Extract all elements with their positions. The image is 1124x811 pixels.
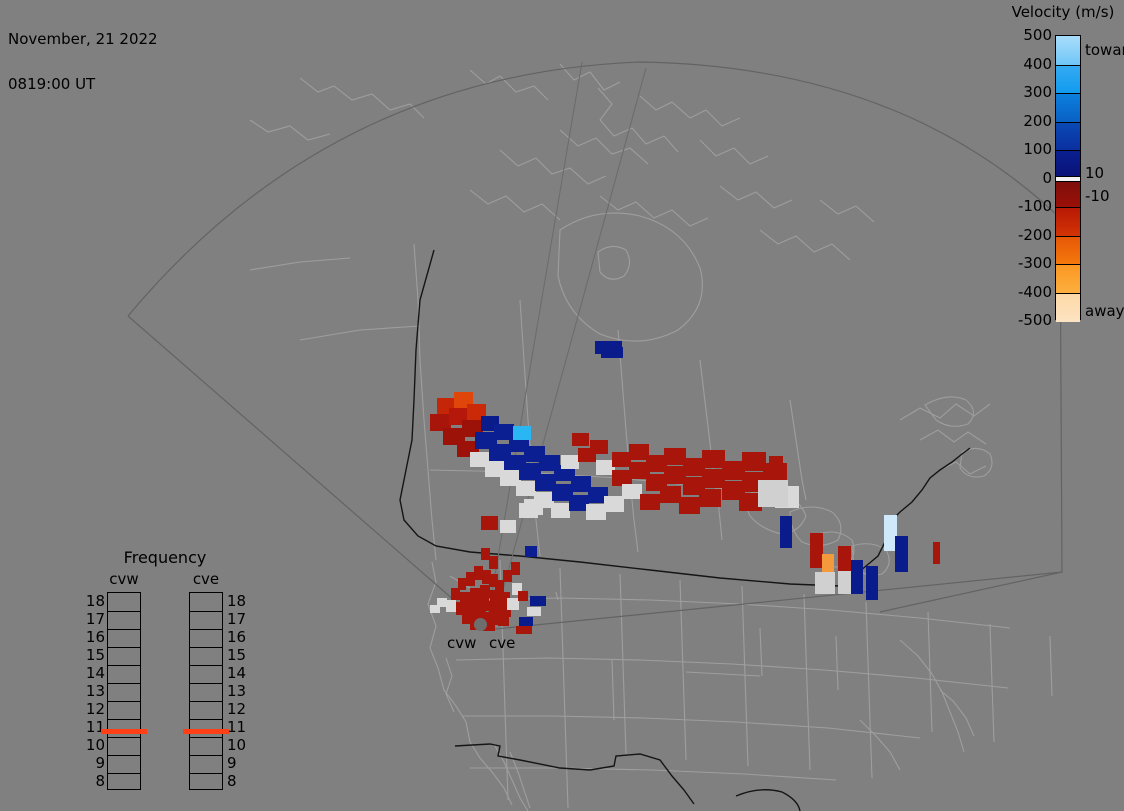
colorbar-tick-label: -500 xyxy=(1018,311,1052,329)
colorbar-tick-label: 100 xyxy=(1023,140,1052,158)
frequency-column-header-cve: cve xyxy=(183,570,229,588)
velocity-cell xyxy=(513,426,531,440)
colorbar-tick-label: -400 xyxy=(1018,283,1052,301)
frequency-scale-label-right: 18 xyxy=(227,592,246,610)
velocity-cell xyxy=(519,617,533,626)
velocity-cell xyxy=(683,458,705,476)
frequency-scale-label-left: 16 xyxy=(85,628,105,646)
frequency-scale-label-left: 18 xyxy=(85,592,105,610)
colorbar-tick-label: -100 xyxy=(1018,197,1052,215)
colorbar-band xyxy=(1056,36,1080,65)
velocity-cell xyxy=(780,516,792,548)
velocity-cell xyxy=(742,452,766,471)
velocity-cell xyxy=(525,546,537,557)
velocity-cell xyxy=(640,494,660,510)
frequency-tick-line xyxy=(108,719,140,720)
velocity-cell xyxy=(481,516,498,530)
frequency-scale-label-right: 16 xyxy=(227,628,246,646)
frequency-scale-label-right: 10 xyxy=(227,736,246,754)
frequency-scale-label-right: 8 xyxy=(227,772,237,790)
velocity-cell xyxy=(722,461,745,480)
frequency-scale-label-right: 11 xyxy=(227,718,246,736)
velocity-cell xyxy=(769,456,783,482)
velocity-cell xyxy=(481,548,490,560)
colorbar-toward-label: toward xyxy=(1085,41,1124,59)
frequency-scale-label-left: 14 xyxy=(85,664,105,682)
velocity-cell xyxy=(451,588,460,600)
frequency-scale-label-left: 8 xyxy=(85,772,105,790)
velocity-cell xyxy=(474,566,483,580)
velocity-cell xyxy=(601,347,623,358)
frequency-tick-line xyxy=(108,755,140,756)
frequency-tick-line xyxy=(190,683,222,684)
colorbar-band xyxy=(1056,207,1080,237)
velocity-cell xyxy=(660,486,681,503)
timestamp-time: 0819:00 UT xyxy=(8,77,158,92)
frequency-tick-line xyxy=(190,701,222,702)
velocity-cell xyxy=(702,469,725,488)
velocity-cell xyxy=(895,536,908,572)
colorbar-band xyxy=(1056,65,1080,95)
frequency-bar-cvw[interactable] xyxy=(107,592,141,790)
colorbar-tick-label: 500 xyxy=(1023,26,1052,44)
frequency-tick-line xyxy=(108,773,140,774)
frequency-scale-label-left: 9 xyxy=(85,754,105,772)
velocity-cell xyxy=(430,605,440,613)
velocity-cell xyxy=(933,542,940,564)
velocity-cell xyxy=(466,572,475,586)
colorbar-band xyxy=(1056,181,1080,208)
frequency-scale-label-right: 9 xyxy=(227,754,237,772)
velocity-cell xyxy=(446,600,456,612)
colorbar-lower-threshold-label: -10 xyxy=(1085,187,1110,205)
velocity-cell xyxy=(489,556,498,569)
frequency-panel: Frequency cvw cve 18171615141312111098 1… xyxy=(85,548,245,788)
colorbar-tick-label: -300 xyxy=(1018,254,1052,272)
frequency-tick-line xyxy=(108,647,140,648)
timestamp-date: November, 21 2022 xyxy=(8,32,158,47)
velocity-cell xyxy=(810,533,823,568)
velocity-cell xyxy=(516,626,532,634)
velocity-cell xyxy=(498,614,509,626)
velocity-cell xyxy=(507,598,519,610)
frequency-tick-line xyxy=(190,629,222,630)
frequency-marker-cvw xyxy=(101,729,147,734)
frequency-scale-label-right: 13 xyxy=(227,682,246,700)
frequency-scale-label-left: 15 xyxy=(85,646,105,664)
frequency-tick-line xyxy=(108,683,140,684)
velocity-cell xyxy=(503,570,512,582)
velocity-cell xyxy=(866,566,878,600)
frequency-scale-label-right: 17 xyxy=(227,610,246,628)
frequency-tick-line xyxy=(108,701,140,702)
velocity-cell xyxy=(572,433,589,446)
colorbar-title: Velocity (m/s) xyxy=(1002,3,1124,21)
radar-map-view: November, 21 2022 0819:00 UT cvw cve Vel… xyxy=(0,0,1124,811)
colorbar-upper-threshold-label: 10 xyxy=(1085,164,1104,182)
velocity-cell xyxy=(551,503,570,518)
frequency-title: Frequency xyxy=(85,548,245,567)
frequency-bar-cve[interactable] xyxy=(189,592,223,790)
velocity-cell xyxy=(511,562,520,575)
colorbar-away-label: away xyxy=(1085,302,1124,320)
frequency-scale-label-right: 12 xyxy=(227,700,246,718)
velocity-cell xyxy=(851,560,863,594)
velocity-cell xyxy=(679,497,700,514)
colorbar-band xyxy=(1056,293,1080,323)
velocity-cell xyxy=(699,489,721,507)
frequency-tick-line xyxy=(190,737,222,738)
colorbar-band xyxy=(1056,150,1080,177)
velocity-cell xyxy=(478,598,489,611)
velocity-cell xyxy=(622,484,642,499)
frequency-scale-label-left: 10 xyxy=(85,736,105,754)
colorbar-band xyxy=(1056,122,1080,152)
velocity-cell xyxy=(516,481,536,496)
velocity-cell xyxy=(604,496,624,512)
colorbar-tick-label: 0 xyxy=(1042,169,1052,187)
velocity-cell xyxy=(664,448,686,465)
colorbar-band xyxy=(1056,264,1080,294)
frequency-tick-line xyxy=(190,647,222,648)
site-label-cve: cve xyxy=(489,634,515,652)
velocity-colorbar: Velocity (m/s) 5004003002001000-100-200-… xyxy=(1005,0,1124,330)
velocity-cell xyxy=(758,480,788,507)
frequency-tick-line xyxy=(108,629,140,630)
colorbar-tick-label: 200 xyxy=(1023,112,1052,130)
colorbar-band xyxy=(1056,236,1080,266)
frequency-tick-line xyxy=(190,611,222,612)
frequency-tick-line xyxy=(190,755,222,756)
frequency-marker-cve xyxy=(183,729,229,734)
colorbar-tick-label: 300 xyxy=(1023,83,1052,101)
velocity-cell xyxy=(530,596,546,606)
velocity-cell xyxy=(500,520,516,533)
colorbar-band xyxy=(1056,93,1080,123)
velocity-cell xyxy=(590,440,608,454)
frequency-tick-line xyxy=(108,665,140,666)
colorbar-gradient-box xyxy=(1055,35,1081,320)
frequency-scale-label-right: 15 xyxy=(227,646,246,664)
colorbar-tick-label: 400 xyxy=(1023,55,1052,73)
velocity-cell xyxy=(815,572,835,594)
velocity-cell xyxy=(527,607,541,616)
frequency-tick-line xyxy=(108,611,140,612)
colorbar-tick-label: -200 xyxy=(1018,226,1052,244)
velocity-cell xyxy=(612,452,631,467)
frequency-scale-label-left: 13 xyxy=(85,682,105,700)
site-label-cvw: cvw xyxy=(447,634,476,652)
velocity-cell xyxy=(561,455,579,469)
velocity-cell xyxy=(480,585,490,598)
frequency-tick-line xyxy=(190,773,222,774)
frequency-column-header-cvw: cvw xyxy=(101,570,147,588)
radar-site-marker xyxy=(474,618,487,631)
frequency-scale-label-left: 12 xyxy=(85,700,105,718)
frequency-scale-label-right: 14 xyxy=(227,664,246,682)
velocity-cell xyxy=(664,466,686,484)
velocity-cell xyxy=(702,450,725,468)
frequency-tick-line xyxy=(108,737,140,738)
velocity-cell xyxy=(524,499,543,515)
frequency-scale-label-left: 17 xyxy=(85,610,105,628)
velocity-cell xyxy=(586,504,606,520)
frequency-tick-line xyxy=(190,665,222,666)
velocity-cell xyxy=(646,455,667,472)
timestamp-block: November, 21 2022 0819:00 UT xyxy=(8,2,158,122)
frequency-tick-line xyxy=(190,719,222,720)
velocity-cell xyxy=(518,591,528,601)
